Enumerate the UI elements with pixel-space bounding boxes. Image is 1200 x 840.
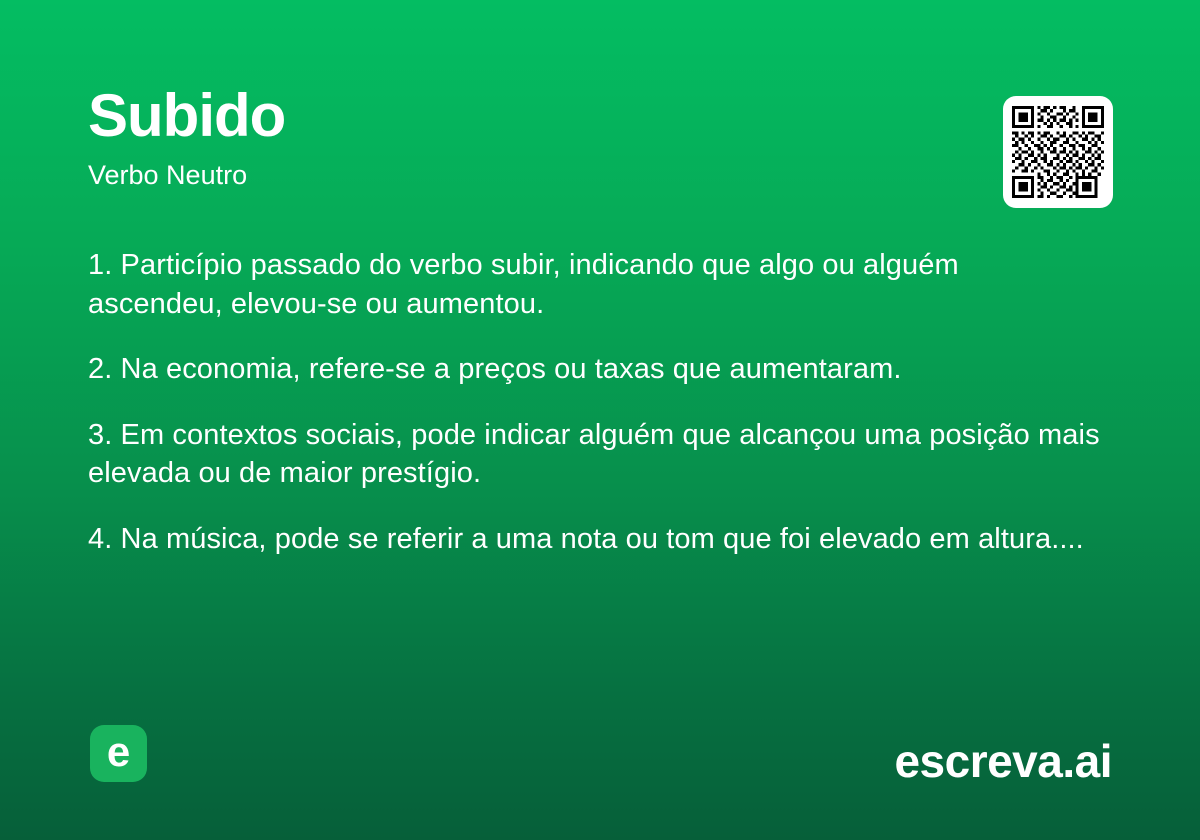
page-title: Subido — [88, 84, 1112, 147]
card-header: Subido Verbo Neutro — [88, 84, 1112, 191]
definition-item: 1. Particípio passado do verbo subir, in… — [88, 246, 1100, 323]
card-footer: e escreva.ai — [0, 710, 1200, 840]
definitions-list: 1. Particípio passado do verbo subir, in… — [88, 246, 1100, 558]
qr-code-card[interactable] — [1003, 96, 1113, 208]
escreva-logo-icon: e — [90, 725, 147, 782]
definition-item: 3. Em contextos sociais, pode indicar al… — [88, 416, 1100, 493]
definition-item: 4. Na música, pode se referir a uma nota… — [88, 520, 1100, 559]
definition-item: 2. Na economia, refere-se a preços ou ta… — [88, 350, 1100, 389]
dictionary-card: Subido Verbo Neutro — [0, 0, 1200, 840]
brand-wordmark: escreva.ai — [894, 738, 1112, 784]
logo-letter: e — [107, 731, 130, 773]
word-class-subtitle: Verbo Neutro — [88, 159, 1112, 191]
qr-code-icon — [1012, 105, 1104, 199]
